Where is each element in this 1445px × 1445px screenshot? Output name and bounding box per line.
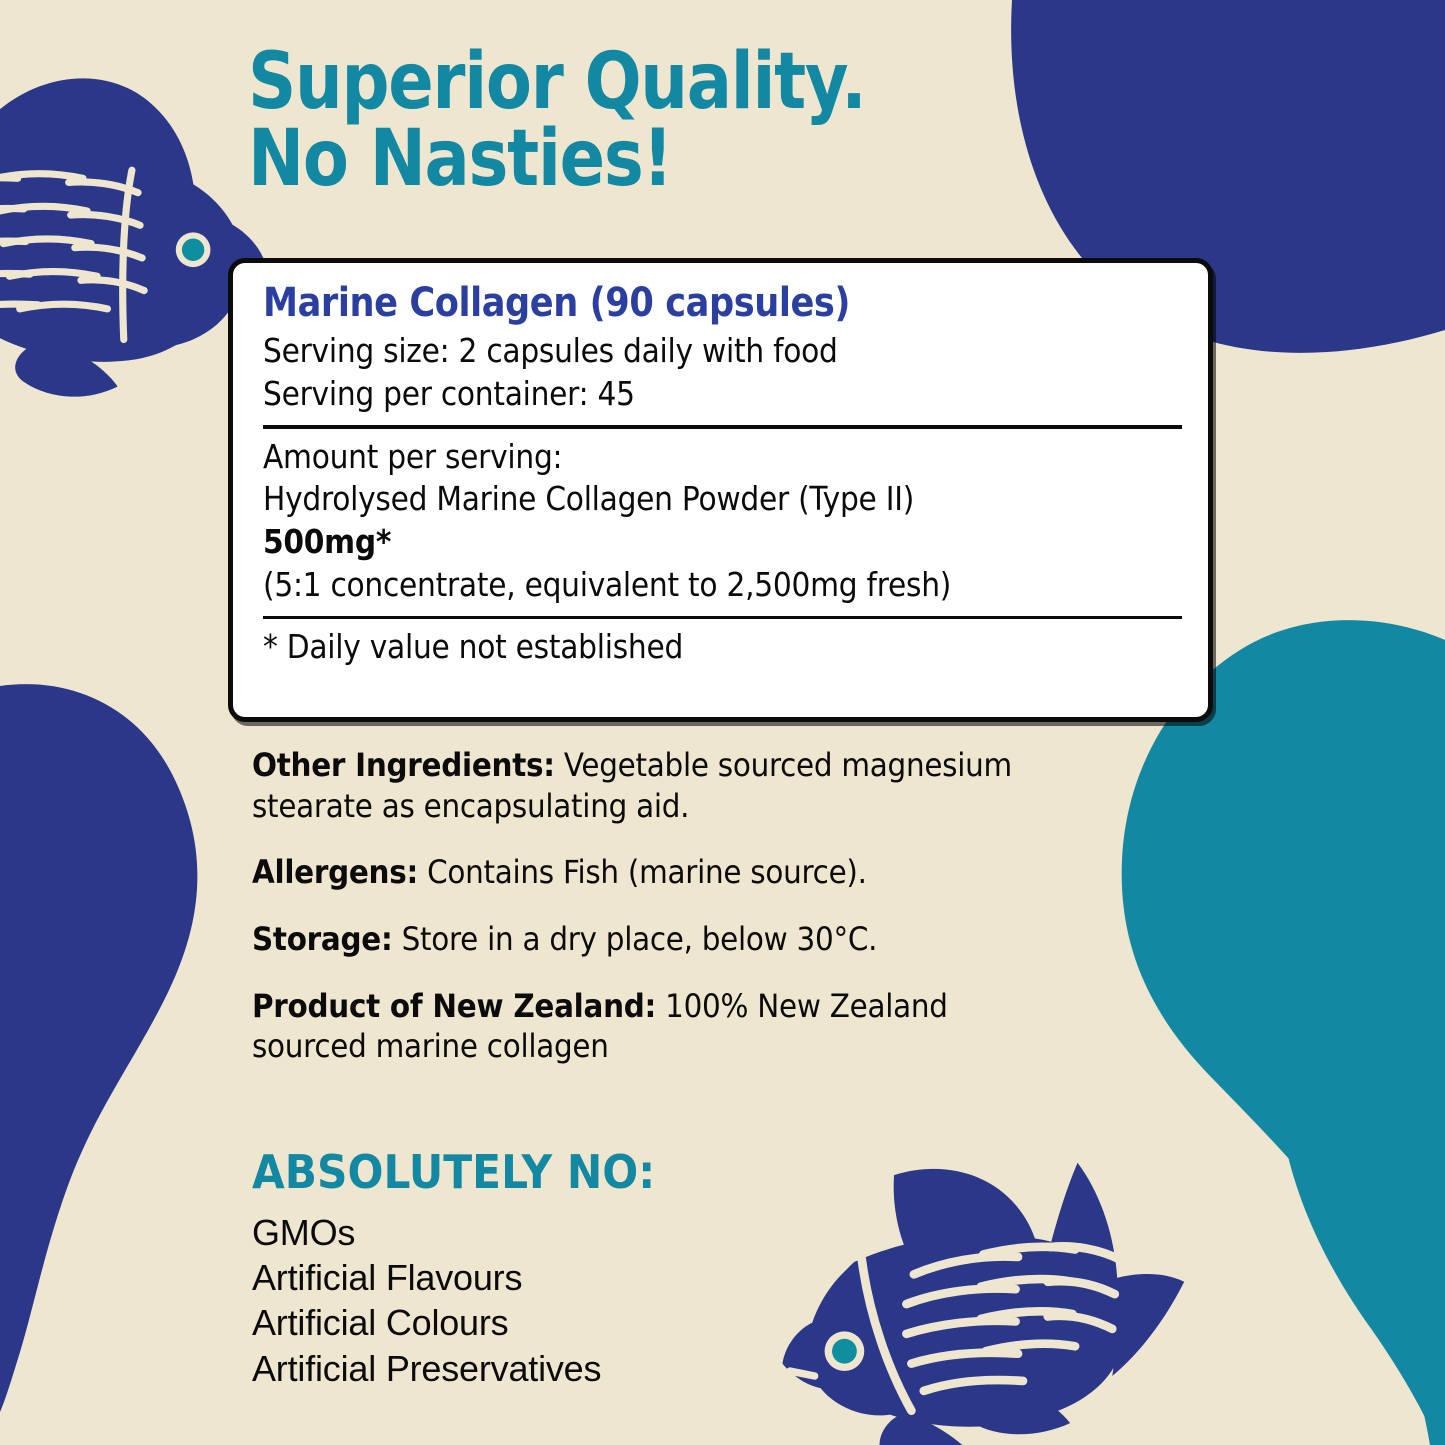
page-title: Superior Quality. No Nasties! bbox=[248, 44, 1022, 198]
supplement-label-canvas: Superior Quality. No Nasties! Marine Col… bbox=[0, 0, 1445, 1445]
divider-bottom bbox=[263, 616, 1182, 619]
list-item: Artificial Preservatives bbox=[252, 1346, 872, 1391]
product-info-block: Other Ingredients: Vegetable sourced mag… bbox=[252, 745, 1132, 1093]
info-allergens: Allergens: Contains Fish (marine source)… bbox=[252, 852, 1062, 893]
list-item: Artificial Flavours bbox=[252, 1255, 872, 1300]
headline-line-1: Superior Quality. bbox=[248, 44, 1022, 121]
absolutely-no-list: GMOs Artificial Flavours Artificial Colo… bbox=[252, 1210, 872, 1391]
info-label: Storage: bbox=[252, 920, 393, 958]
info-value: Store in a dry place, below 30°C. bbox=[393, 920, 878, 958]
ingredient-name: Hydrolysed Marine Collagen Powder (Type … bbox=[263, 478, 1090, 521]
list-item: Artificial Colours bbox=[252, 1300, 872, 1345]
info-label: Product of New Zealand: bbox=[252, 987, 656, 1025]
serving-size: Serving size: 2 capsules daily with food bbox=[263, 330, 1090, 373]
ingredient-amount: 500mg* bbox=[263, 521, 1090, 564]
info-other-ingredients: Other Ingredients: Vegetable sourced mag… bbox=[252, 745, 1062, 826]
product-name: Marine Collagen (90 capsules) bbox=[263, 281, 1072, 326]
supplement-facts-panel: Marine Collagen (90 capsules) Serving si… bbox=[228, 258, 1213, 722]
info-label: Allergens: bbox=[252, 853, 418, 891]
amount-per-serving-label: Amount per serving: bbox=[263, 436, 1090, 479]
info-product-origin: Product of New Zealand: 100% New Zealand… bbox=[252, 986, 1062, 1067]
info-value: Contains Fish (marine source). bbox=[418, 853, 867, 891]
serving-per-container: Serving per container: 45 bbox=[263, 373, 1090, 416]
ingredient-note: (5:1 concentrate, equivalent to 2,500mg … bbox=[263, 564, 1090, 607]
daily-value-footnote: * Daily value not established bbox=[263, 626, 1090, 669]
divider-top bbox=[263, 425, 1182, 429]
info-label: Other Ingredients: bbox=[252, 746, 555, 784]
list-item: GMOs bbox=[252, 1210, 872, 1255]
absolutely-no-heading: ABSOLUTELY NO: bbox=[252, 1147, 822, 1198]
headline-line-2: No Nasties! bbox=[248, 121, 1022, 198]
absolutely-no-section: ABSOLUTELY NO: GMOs Artificial Flavours … bbox=[252, 1147, 872, 1391]
info-storage: Storage: Store in a dry place, below 30°… bbox=[252, 919, 1062, 960]
